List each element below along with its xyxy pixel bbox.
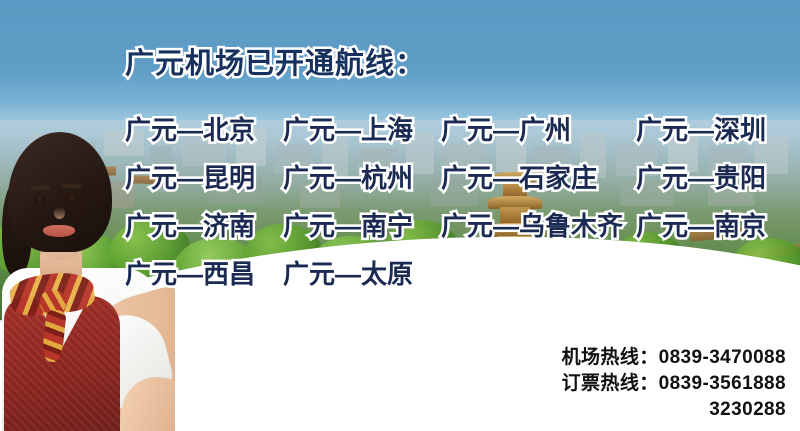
booking-hotline-alt: 3230288 xyxy=(562,397,786,423)
route-item[interactable]: 广元—北京 xyxy=(125,110,255,147)
nose xyxy=(54,207,65,219)
contact-block: 机场热线：0839-3470088 订票热线：0839-3561888 3230… xyxy=(562,345,786,423)
route-item[interactable]: 广元—太原 xyxy=(283,254,413,291)
page-title: 广元机场已开通航线： xyxy=(125,40,425,82)
route-item[interactable]: 广元—西昌 xyxy=(125,254,255,291)
tree-canopy xyxy=(730,238,800,296)
airline-route-poster: 广元机场已开通航线： 广元—北京 广元—上海 广元—广州 广元—深圳 广元—昆明… xyxy=(0,0,800,431)
route-item[interactable]: 广元—贵阳 xyxy=(636,158,766,195)
route-item[interactable]: 广元—杭州 xyxy=(283,158,413,195)
tree-canopy xyxy=(436,240,522,306)
route-item[interactable]: 广元—上海 xyxy=(283,110,413,147)
route-item[interactable]: 广元—广州 xyxy=(441,110,571,147)
route-item[interactable]: 广元—南京 xyxy=(636,206,766,243)
booking-hotline: 订票热线：0839-3561888 xyxy=(562,371,786,397)
pagoda-tier xyxy=(490,306,540,320)
airport-hotline: 机场热线：0839-3470088 xyxy=(562,345,786,371)
route-item[interactable]: 广元—昆明 xyxy=(125,158,255,195)
eye-left xyxy=(32,196,47,204)
mouth xyxy=(43,225,75,237)
route-item[interactable]: 广元—南宁 xyxy=(283,206,413,243)
route-item[interactable]: 广元—济南 xyxy=(125,206,255,243)
route-item[interactable]: 广元—深圳 xyxy=(636,110,766,147)
route-item[interactable]: 广元—乌鲁木齐 xyxy=(441,206,623,243)
eye-right xyxy=(64,194,79,202)
route-item[interactable]: 广元—石家庄 xyxy=(441,158,597,195)
